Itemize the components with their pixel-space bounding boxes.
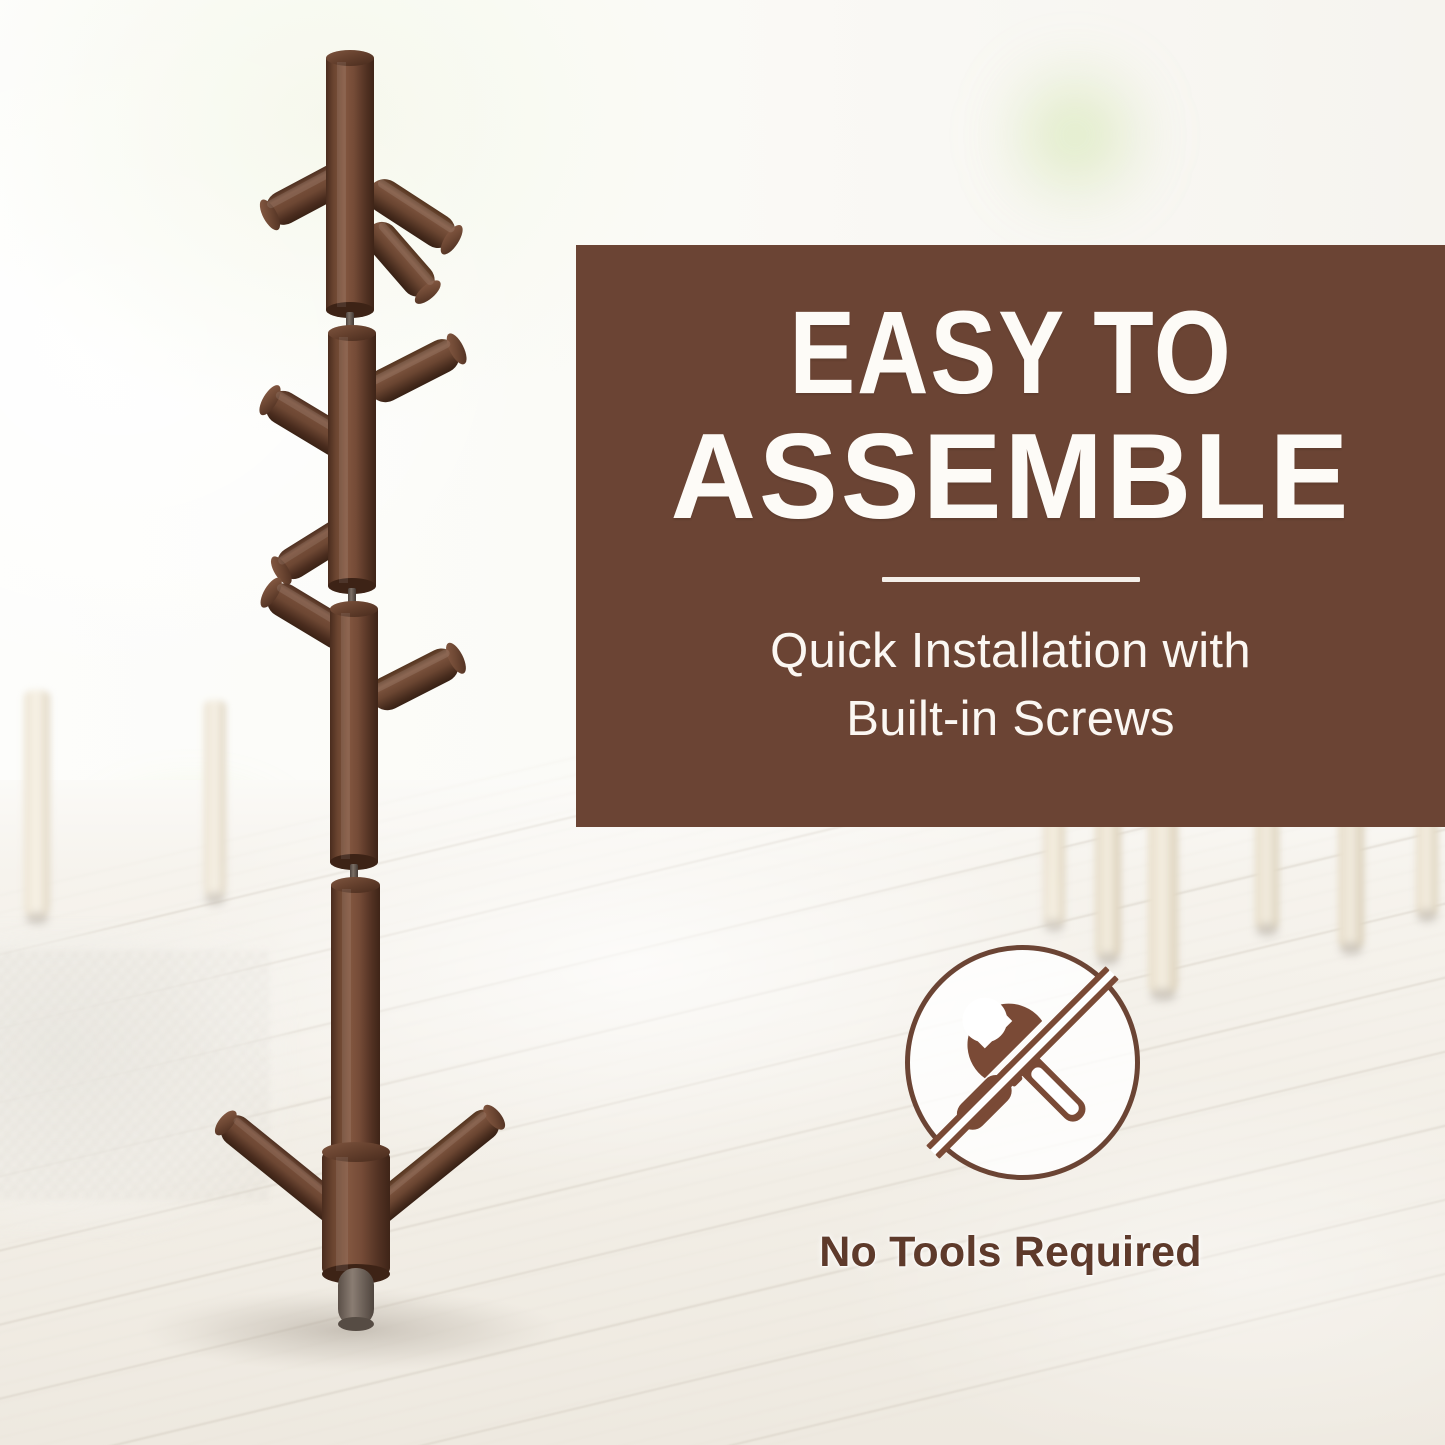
no-tools-badge [905, 945, 1140, 1180]
feature-callout-panel: EASY TO ASSEMBLE Quick Installation with… [576, 245, 1445, 827]
no-tools-label: No Tools Required [576, 1228, 1445, 1277]
segment-4-pole [331, 877, 380, 1160]
product-marketing-image: EASY TO ASSEMBLE Quick Installation with… [0, 0, 1445, 1445]
subtitle-block: Quick Installation with Built-in Screws [770, 618, 1251, 753]
segment-2-pole [328, 325, 376, 594]
segment-1-pole [326, 50, 374, 318]
subtitle-line-1: Quick Installation with [770, 618, 1251, 686]
headline-line-1: EASY TO [789, 297, 1232, 409]
headline-line-2: ASSEMBLE [670, 419, 1351, 535]
no-tools-icon [905, 945, 1140, 1180]
segment-3-pole [330, 601, 378, 870]
headline-divider [882, 577, 1140, 582]
subtitle-line-2: Built-in Screws [770, 686, 1251, 754]
